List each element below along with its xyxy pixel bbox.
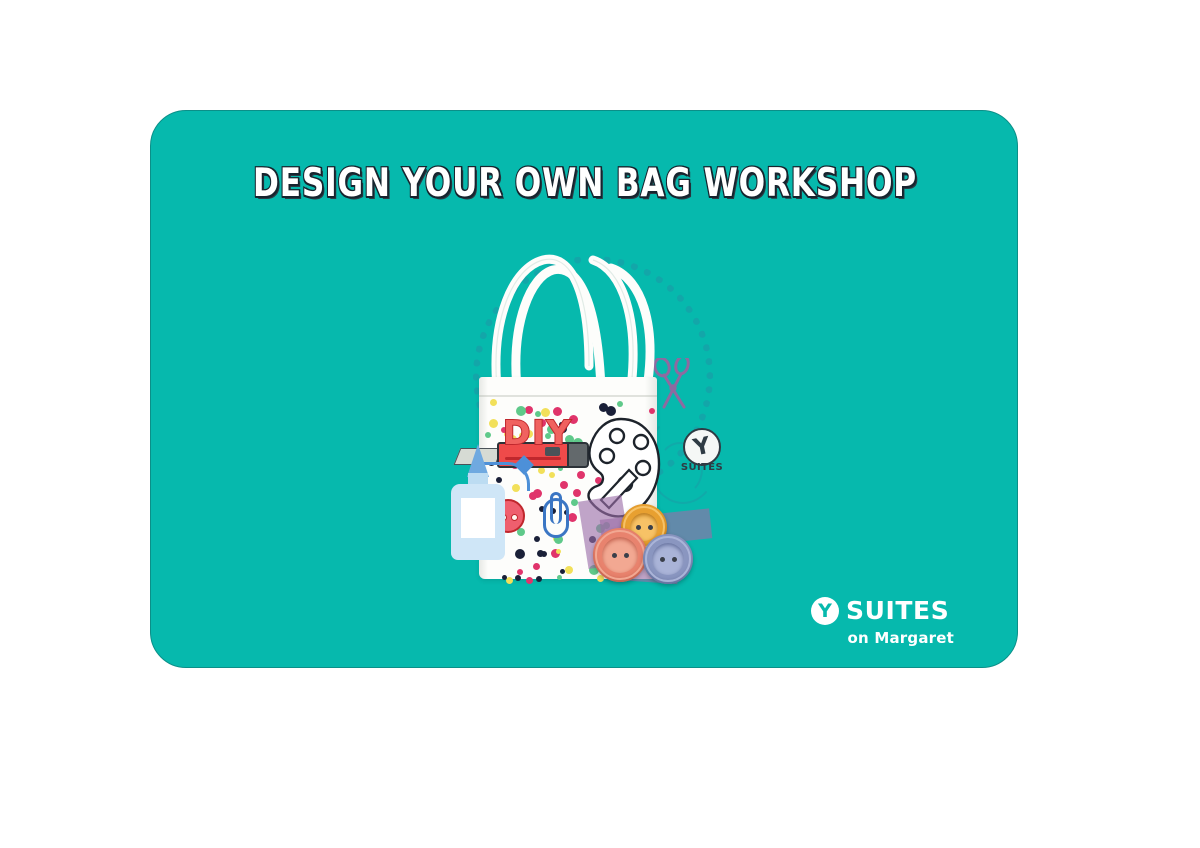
confetti-dot [533,563,540,570]
confetti-dot [502,575,507,580]
confetti-dot [489,419,498,428]
confetti-dot [560,569,565,574]
glue-bottle-label [461,498,495,538]
confetti-dot [526,577,533,584]
box-cutter-groove [505,457,561,460]
diy-lettering: DIY [503,413,573,452]
paperclip-inner [550,492,562,524]
page-title: DESIGN YOUR OWN BAG WORKSHOP [238,163,932,205]
bag-illustration: DIY [451,246,751,616]
event-poster-card: DESIGN YOUR OWN BAG WORKSHOP [150,110,1018,668]
button-salmon [593,528,647,582]
confetti-dot [515,575,521,581]
button-hole [660,557,665,562]
button-hole [624,553,629,558]
button-hole [672,557,677,562]
confetti-dot [536,576,542,582]
suites-watermark-badge: Y SUITES [679,428,725,474]
confetti-dot [515,549,525,559]
button-hole [612,553,617,558]
confetti-dot [560,481,568,489]
confetti-dot [568,513,577,522]
confetti-dot [506,577,513,584]
suites-watermark-label: SUITES [679,462,725,473]
confetti-dot [549,472,555,478]
button-blue [643,534,693,584]
button-ring-inner [602,537,638,573]
confetti-dot [649,408,655,414]
brand-name: SUITES [846,596,949,625]
confetti-dot [529,492,537,500]
y-logo-mark: Y [811,597,839,625]
button-hole [648,525,653,530]
button-hole [636,525,641,530]
confetti-dot [565,566,573,574]
page-canvas: DESIGN YOUR OWN BAG WORKSHOP [0,0,1200,848]
button-ring-inner [652,543,684,575]
confetti-dot [557,575,562,580]
brand-location: on Margaret [848,629,954,647]
brand-logo: Y SUITES on Margaret [811,596,956,656]
tote-handles [471,246,681,391]
confetti-dot [485,432,491,438]
